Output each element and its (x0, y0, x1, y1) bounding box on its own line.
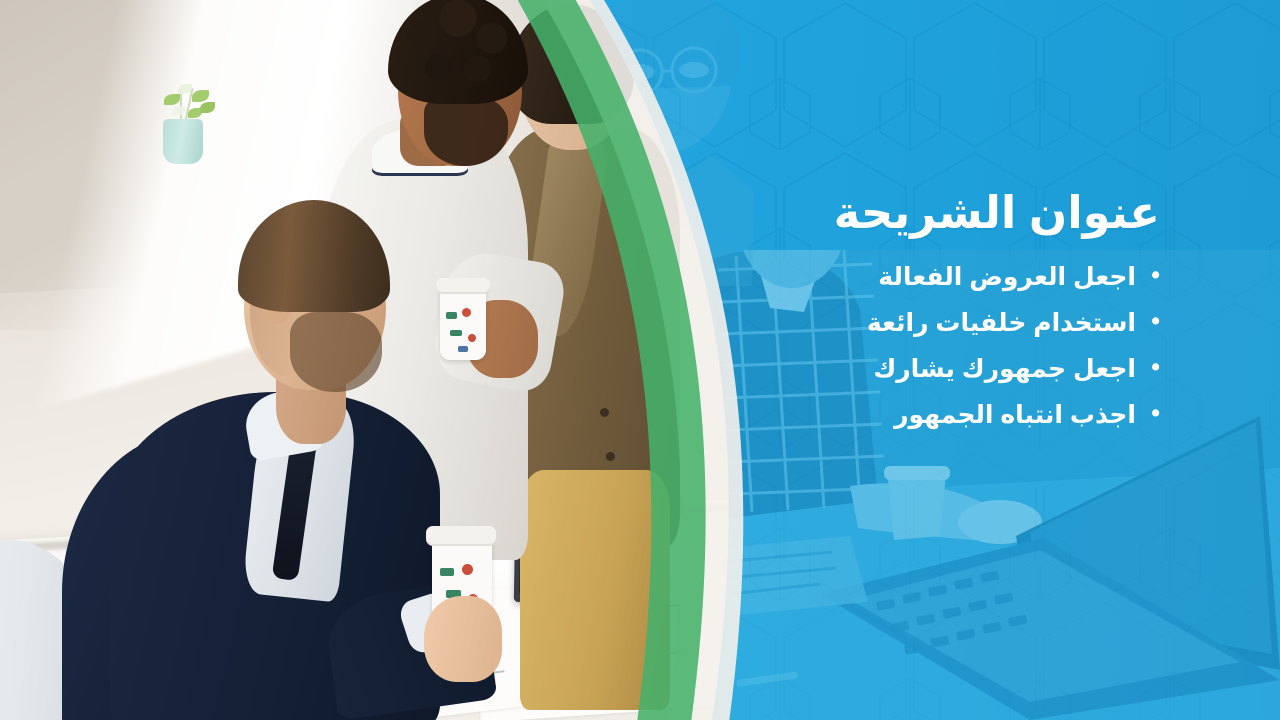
page-title: عنوان الشريحة (760, 186, 1160, 239)
slide-content: عنوان الشريحة اجعل العروض الفعالة استخدا… (760, 186, 1160, 449)
coffee-cup-lower-lid (426, 526, 496, 546)
plant-pot (163, 119, 203, 164)
person-brown-blazer-trousers (520, 470, 670, 710)
bullet-list: اجعل العروض الفعالة استخدام خلفيات رائعة… (760, 265, 1160, 428)
list-item: استخدام خلفيات رائعة (760, 311, 1160, 336)
list-item: اجعل جمهورك يشارك (760, 357, 1160, 382)
person-navy-suit-beard (290, 312, 382, 392)
person-white-polo-hair (388, 0, 528, 104)
list-item: اجعل العروض الفعالة (760, 265, 1160, 290)
presentation-slide: عنوان الشريحة اجعل العروض الفعالة استخدا… (0, 0, 1280, 720)
blazer-button (606, 452, 615, 461)
person-navy-suit-hand (424, 596, 502, 682)
coffee-cup-upper (440, 286, 486, 360)
list-item: اجذب انتباه الجمهور (760, 403, 1160, 428)
person-white-polo-beard (424, 96, 508, 166)
blazer-button (600, 408, 609, 417)
coffee-cup-upper-lid (436, 278, 490, 294)
